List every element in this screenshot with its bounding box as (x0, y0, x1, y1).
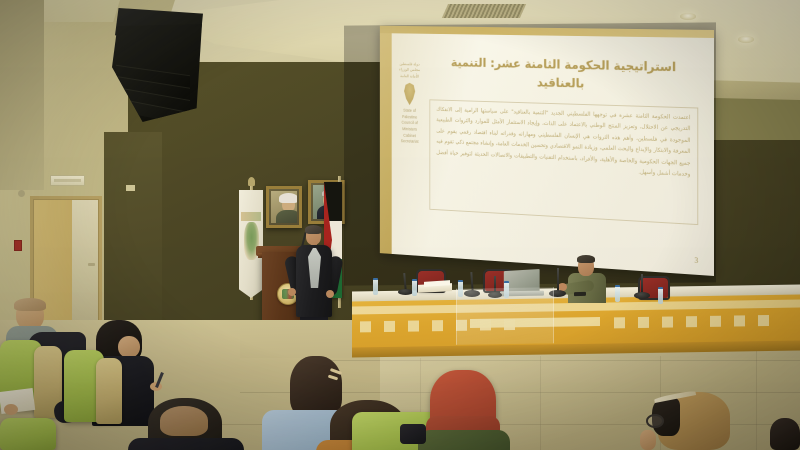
acoustic-panel (104, 132, 162, 322)
audience-hair (290, 356, 342, 418)
table-microphone (641, 274, 643, 294)
banner-text-band (241, 212, 261, 221)
phone-on-table[interactable] (574, 292, 586, 296)
water-bottle (412, 279, 417, 296)
portrait-left (266, 186, 302, 228)
audience-hand (4, 404, 18, 415)
presenter-left-hand (288, 288, 296, 296)
wall-fixture-icon (18, 190, 25, 197)
audience-face (118, 336, 140, 358)
banner-finial (248, 177, 255, 186)
downlight-icon (738, 36, 754, 43)
left-wall-return (0, 0, 44, 190)
water-bottle (658, 287, 663, 304)
audience-seat[interactable] (0, 418, 56, 450)
seat-armrest (96, 358, 122, 424)
presenter-hair (305, 225, 322, 234)
wall-plate-icon (126, 185, 135, 191)
door-handle[interactable] (88, 263, 95, 266)
audience-scalp (160, 406, 208, 436)
door-glass-panel (72, 200, 98, 324)
microphone-base (398, 289, 413, 295)
audience-face (640, 430, 656, 450)
projection-screen: دولة فلسطين مجلس الوزراء الأمانة العامة … (380, 26, 714, 276)
screen-glare (380, 26, 714, 276)
water-bottle (615, 285, 620, 302)
fire-alarm-icon[interactable] (14, 240, 22, 251)
panelist-hair (577, 255, 595, 263)
microphone-base (634, 292, 650, 299)
water-bottle (373, 278, 378, 295)
bag-icon (400, 424, 426, 444)
table-microphone (557, 268, 559, 292)
glasses-icon (646, 414, 664, 428)
auditorium-photo: دولة فلسطين مجلس الوزراء الأمانة العامة … (0, 0, 800, 450)
downlight-icon (680, 13, 696, 20)
audience-head (770, 418, 800, 450)
air-vent (442, 4, 526, 18)
table-glass-divider (456, 287, 554, 345)
audience-hair (14, 298, 46, 311)
audience-torso (128, 438, 244, 450)
presenter-right-hand (326, 290, 334, 298)
exit-sign-face (54, 179, 81, 182)
audience-torso (418, 430, 510, 450)
